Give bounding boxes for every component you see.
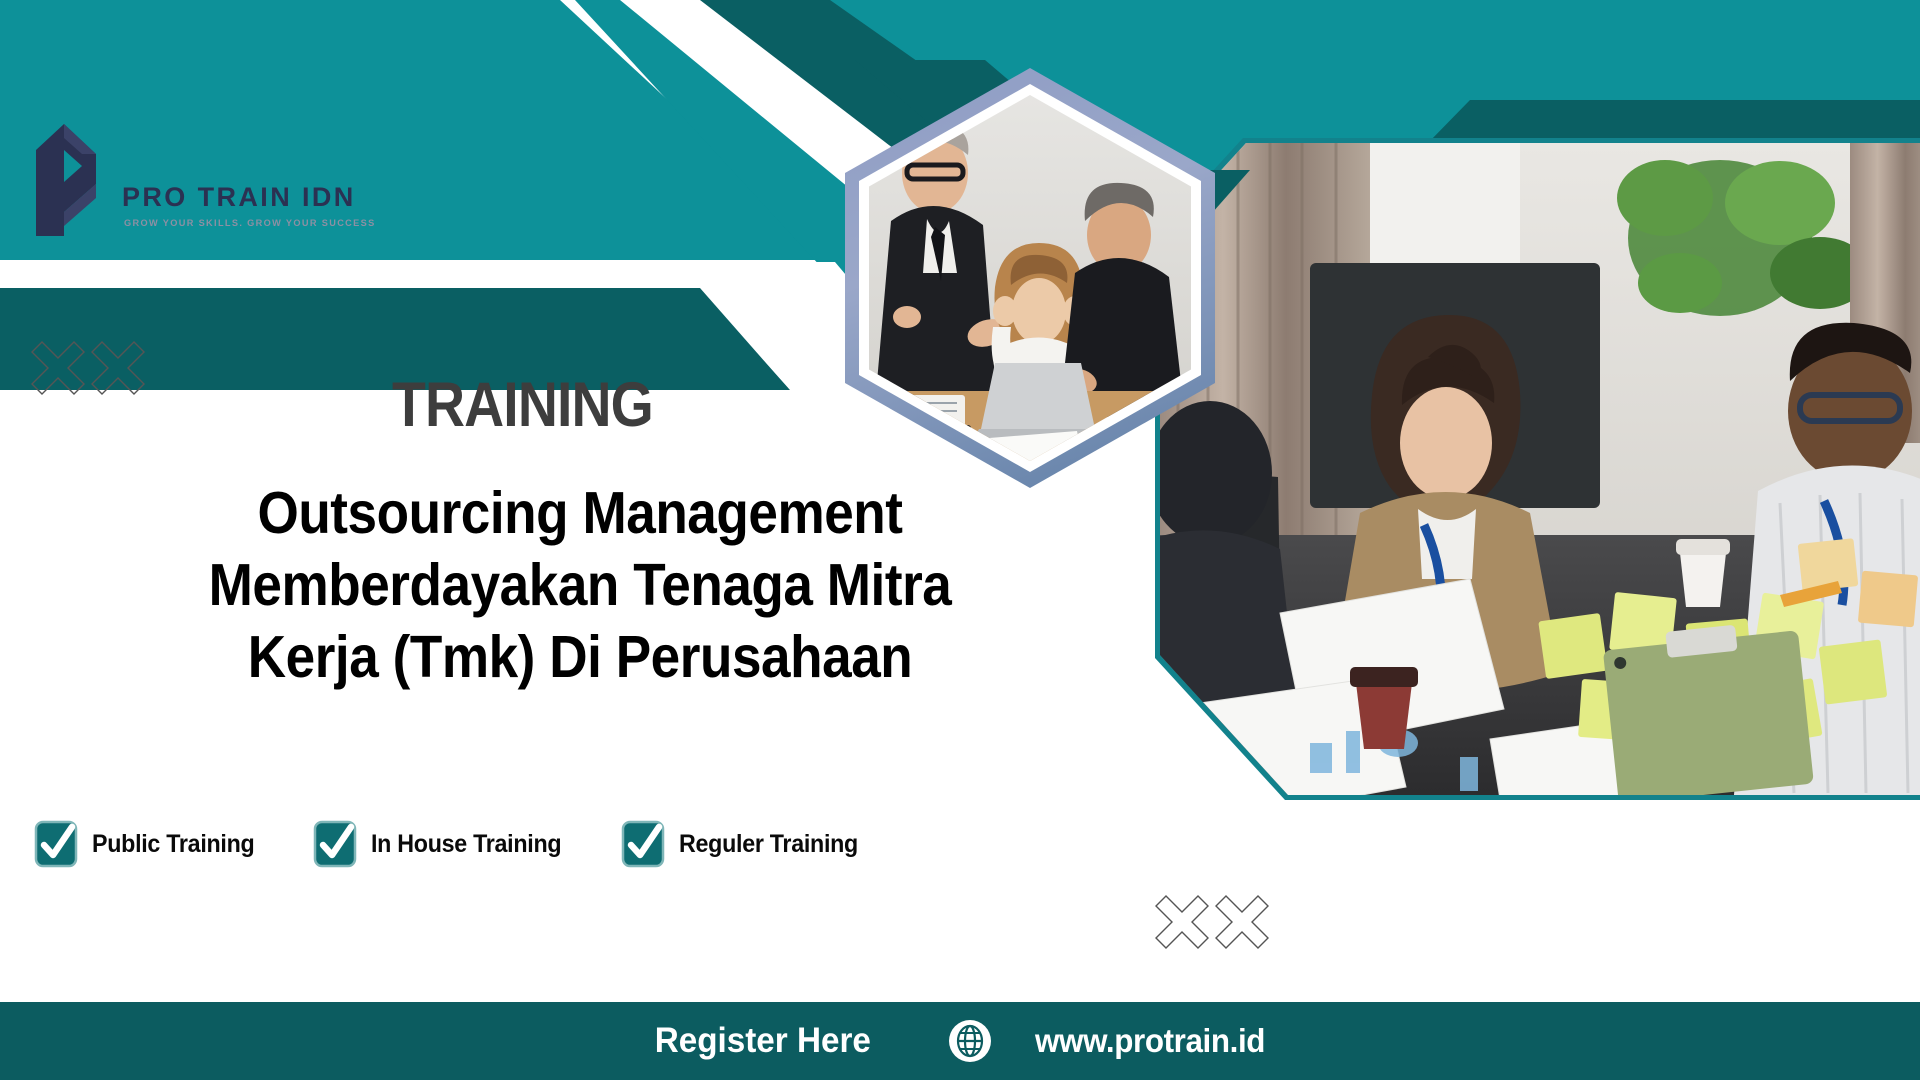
training-type-label: In House Training <box>371 830 561 859</box>
training-type-label: Reguler Training <box>679 830 858 859</box>
checkbox-checked-icon[interactable] <box>621 820 665 868</box>
x-marks-top-left <box>28 338 150 400</box>
headline-line-3: Kerja (Tmk) Di Perusahaan <box>58 622 1102 694</box>
training-type-inhouse[interactable]: In House Training <box>313 820 576 868</box>
eyebrow-training: TRAINING <box>392 374 653 437</box>
globe-icon <box>947 1018 993 1064</box>
brand-name: PRO TRAIN IDN <box>122 182 356 213</box>
training-type-list: Public Training In House Training Regule… <box>34 820 872 868</box>
checkbox-checked-icon[interactable] <box>313 820 357 868</box>
page-title: Outsourcing Management Memberdayakan Ten… <box>0 478 1160 694</box>
headline-line-2: Memberdayakan Tenaga Mitra <box>58 550 1102 622</box>
x-marks-bottom <box>1152 892 1274 954</box>
main-photo <box>1155 138 1920 800</box>
banner-canvas: PRO TRAIN IDN GROW YOUR SKILLS. GROW YOU… <box>0 0 1920 1080</box>
main-photo-image <box>1160 143 1920 795</box>
headline-line-1: Outsourcing Management <box>58 478 1102 550</box>
footer-bar: Register Here www.protrain.id <box>0 1002 1920 1080</box>
training-type-label: Public Training <box>92 830 254 859</box>
brand-tagline: GROW YOUR SKILLS. GROW YOUR SUCCESS <box>124 218 376 228</box>
hexagon-photo <box>845 68 1215 488</box>
checkbox-checked-icon[interactable] <box>34 820 78 868</box>
training-type-reguler[interactable]: Reguler Training <box>621 820 871 868</box>
website-url[interactable]: www.protrain.id <box>1035 1022 1265 1060</box>
register-here-label[interactable]: Register Here <box>655 1021 871 1061</box>
training-type-public[interactable]: Public Training <box>34 820 267 868</box>
pro-train-arrow-logo-icon <box>30 120 112 240</box>
brand-logo[interactable]: PRO TRAIN IDN GROW YOUR SKILLS. GROW YOU… <box>30 120 360 255</box>
